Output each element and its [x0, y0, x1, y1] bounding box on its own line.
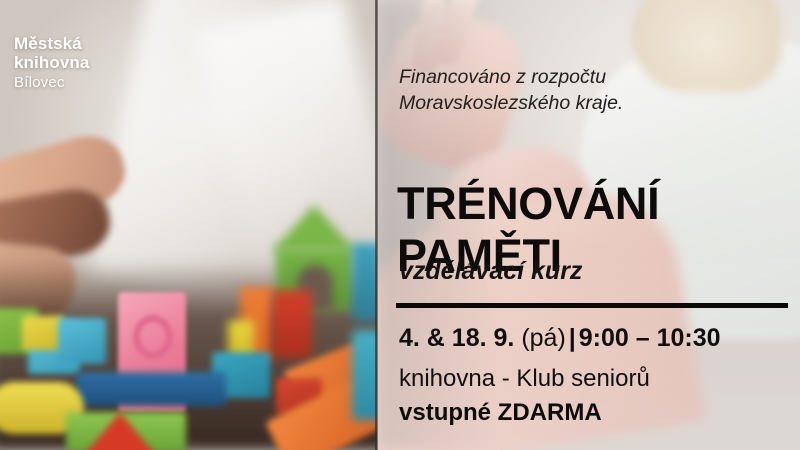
date-time-separator: | — [566, 324, 579, 352]
funding-statement: Financováno z rozpočtu Moravskoslezského… — [399, 64, 623, 116]
photo-block-cyan-mid — [58, 318, 106, 364]
library-logo: Městská knihovna Bílovec — [14, 34, 89, 93]
poster-content: Financováno z rozpočtu Moravskoslezského… — [399, 0, 800, 450]
event-price: vstupné ZDARMA — [399, 398, 602, 428]
date-time-line: 4. & 18. 9. (pá)|9:00 – 10:30 — [399, 322, 721, 354]
panel-divider-seam — [375, 0, 378, 450]
horizontal-rule — [396, 303, 788, 308]
photo-block-red-tall — [272, 290, 312, 358]
photo-block-red-triangle — [82, 412, 158, 450]
event-venue: knihovna - Klub seniorů — [399, 364, 650, 394]
photo-block-green-roof — [272, 205, 356, 251]
photo-block-pink-ring — [133, 315, 173, 359]
photo-block-navy-bar — [76, 372, 226, 406]
logo-line-knihovna: knihovna — [14, 53, 89, 72]
event-time: 9:00 – 10:30 — [579, 324, 721, 352]
logo-line-mestska: Městská — [14, 34, 89, 53]
photo-block-teal-tall — [352, 243, 377, 321]
event-weekday: (pá) — [521, 324, 565, 352]
event-date: 4. & 18. 9. — [399, 324, 514, 352]
poster: Městská knihovna Bílovec Financováno z r… — [0, 0, 800, 450]
photo-block-teal-right — [352, 330, 377, 420]
logo-city-name: Bílovec — [14, 72, 89, 93]
course-subtitle: vzdělávací kurz — [399, 256, 582, 286]
